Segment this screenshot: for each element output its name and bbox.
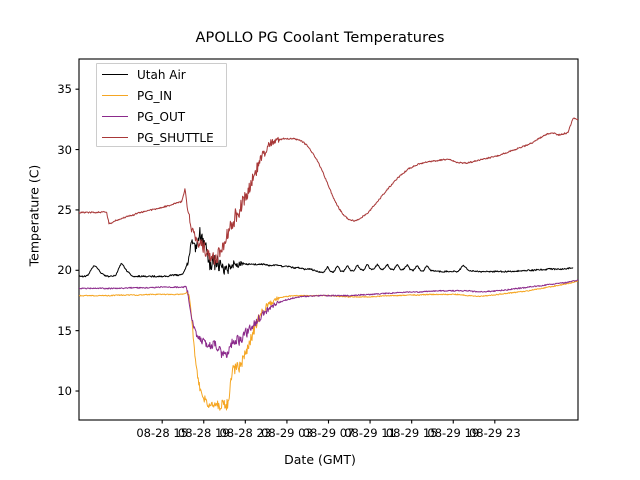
chart-legend[interactable]: Utah AirPG_INPG_OUTPG_SHUTTLE <box>96 63 227 147</box>
series-line <box>79 280 578 358</box>
legend-label: PG_OUT <box>137 111 185 123</box>
series-line <box>79 281 578 410</box>
legend-item-utah-air[interactable]: Utah Air <box>97 64 226 85</box>
x-axis-label: Date (GMT) <box>0 452 640 467</box>
series-line <box>79 227 573 277</box>
legend-label: Utah Air <box>137 69 186 81</box>
y-axis-label: Temperature (C) <box>27 86 42 346</box>
chart-figure: APOLLO PG Coolant Temperatures 101520253… <box>0 0 640 480</box>
x-tick-label: 08-29 23 <box>469 426 521 440</box>
y-tick-label: 35 <box>40 82 72 96</box>
legend-label: PG_SHUTTLE <box>137 132 214 144</box>
legend-label: PG_IN <box>137 90 172 102</box>
legend-swatch-icon <box>102 74 128 75</box>
y-tick-label: 25 <box>40 203 72 217</box>
legend-swatch-icon <box>102 95 128 96</box>
data-series-group <box>79 118 578 410</box>
legend-swatch-icon <box>102 116 128 117</box>
legend-item-pg-in[interactable]: PG_IN <box>97 85 226 106</box>
y-tick-label: 30 <box>40 143 72 157</box>
legend-swatch-icon <box>102 137 128 138</box>
legend-item-pg-out[interactable]: PG_OUT <box>97 106 226 127</box>
y-tick-label: 20 <box>40 263 72 277</box>
legend-item-pg-shuttle[interactable]: PG_SHUTTLE <box>97 127 226 148</box>
y-tick-label: 15 <box>40 324 72 338</box>
y-tick-label: 10 <box>40 384 72 398</box>
